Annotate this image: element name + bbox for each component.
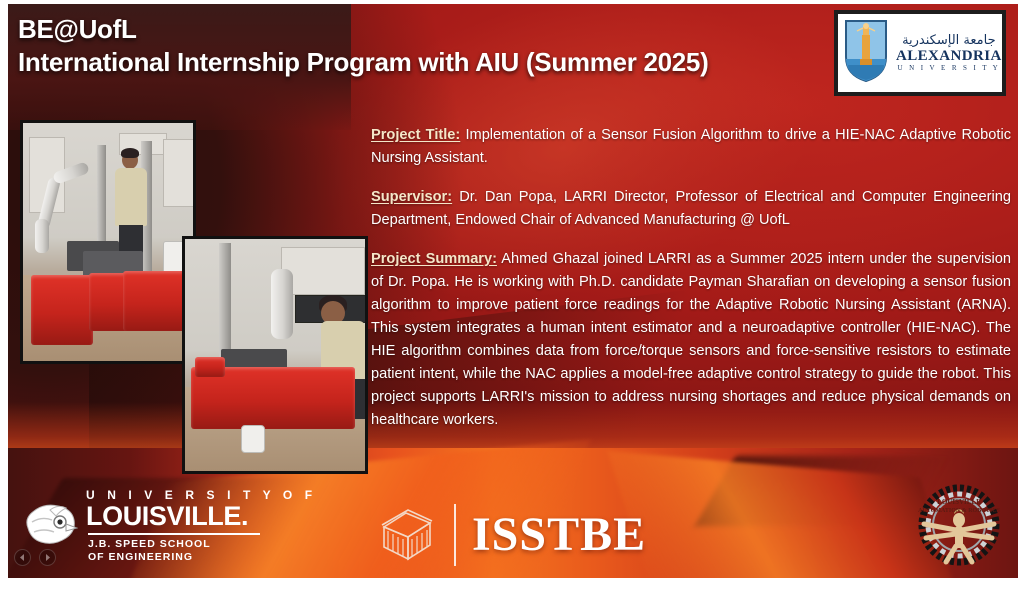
photo2-robot-arm xyxy=(271,269,293,339)
alexandria-university-wordmark: جامعة الإسكندرية ALEXANDRIA U N I V E R … xyxy=(896,34,1002,73)
supervisor-paragraph: Supervisor: Dr. Dan Popa, LARRI Director… xyxy=(371,186,1011,232)
uofl-louisville-text: LOUISVILLE. xyxy=(86,502,317,530)
project-title-label: Project Title: xyxy=(371,127,460,143)
slideshow-playback-controls[interactable] xyxy=(14,549,56,566)
project-title-paragraph: Project Title: Implementation of a Senso… xyxy=(371,124,1011,170)
title-line-1: BE@UofL xyxy=(18,14,708,44)
project-summary-label: Project Summary: xyxy=(371,251,497,267)
classical-building-icon xyxy=(376,505,438,566)
photo1-wall-panel-right xyxy=(163,139,195,207)
cardinal-bird-icon xyxy=(20,498,78,555)
slide-header: BE@UofL International Internship Program… xyxy=(8,4,1018,112)
supervisor-text: Dr. Dan Popa, LARRI Director, Professor … xyxy=(371,189,1011,228)
aiu-name-text: ALEXANDRIA xyxy=(896,48,1002,64)
isstbe-logo: ISSTBE xyxy=(376,504,646,566)
photo2-wall-board xyxy=(281,247,365,295)
photo1-person-hair xyxy=(121,148,139,158)
uofl-wordmark: U N I V E R S I T Y O F LOUISVILLE. J.B.… xyxy=(86,488,317,564)
uofl-school-line-2: OF ENGINEERING xyxy=(88,551,317,564)
page-title: BE@UofL International Internship Program… xyxy=(18,14,708,78)
svg-text:AUTOMATION & ROBOTICS: AUTOMATION & ROBOTICS xyxy=(918,508,1000,514)
lighthouse-shield-icon xyxy=(844,19,888,88)
photo2-robot-base-shelf xyxy=(195,357,225,377)
university-of-louisville-logo: U N I V E R S I T Y O F LOUISVILLE. J.B.… xyxy=(20,488,317,564)
uofl-university-of-text: U N I V E R S I T Y O F xyxy=(86,488,317,502)
slide-body-text: Project Title: Implementation of a Senso… xyxy=(371,124,1011,432)
supervisor-label: Supervisor: xyxy=(371,189,452,205)
project-summary-paragraph: Project Summary: Ahmed Ghazal joined LAR… xyxy=(371,248,1011,432)
isstbe-divider xyxy=(454,504,456,566)
photo1-robot-arm-lower xyxy=(35,219,49,253)
isstbe-wordmark: ISSTBE xyxy=(472,510,646,560)
title-line-2: International Internship Program with AI… xyxy=(18,46,708,78)
next-slide-icon[interactable] xyxy=(39,549,56,566)
alexandria-university-logo: جامعة الإسكندرية ALEXANDRIA U N I V E R … xyxy=(834,10,1006,96)
photo1-robot-base-left xyxy=(31,275,93,345)
previous-slide-icon[interactable] xyxy=(14,549,31,566)
project-summary-text: Ahmed Ghazal joined LARRI as a Summer 20… xyxy=(371,251,1011,428)
larri-vitruvian-gear-logo-icon: LOUISVILLE AUTOMATION & ROBOTICS xyxy=(914,480,1004,570)
aiu-arabic-text: جامعة الإسكندرية xyxy=(902,34,996,48)
photo1-person-shirt xyxy=(115,168,147,226)
svg-text:LOUISVILLE: LOUISVILLE xyxy=(937,498,981,506)
presentation-slide: BE@UofL International Internship Program… xyxy=(8,4,1018,578)
photo1-robot-base-right xyxy=(123,271,185,331)
aiu-subtitle-text: U N I V E R S I T Y xyxy=(898,64,1001,73)
project-title-text: Implementation of a Sensor Fusion Algori… xyxy=(371,127,1011,166)
uofl-divider-rule xyxy=(88,533,260,535)
photo-intern-working-on-robot xyxy=(182,236,368,474)
photo-robot-with-intern xyxy=(20,120,196,364)
photo2-bucket xyxy=(241,425,265,453)
uofl-school-line-1: J.B. SPEED SCHOOL xyxy=(88,538,317,551)
